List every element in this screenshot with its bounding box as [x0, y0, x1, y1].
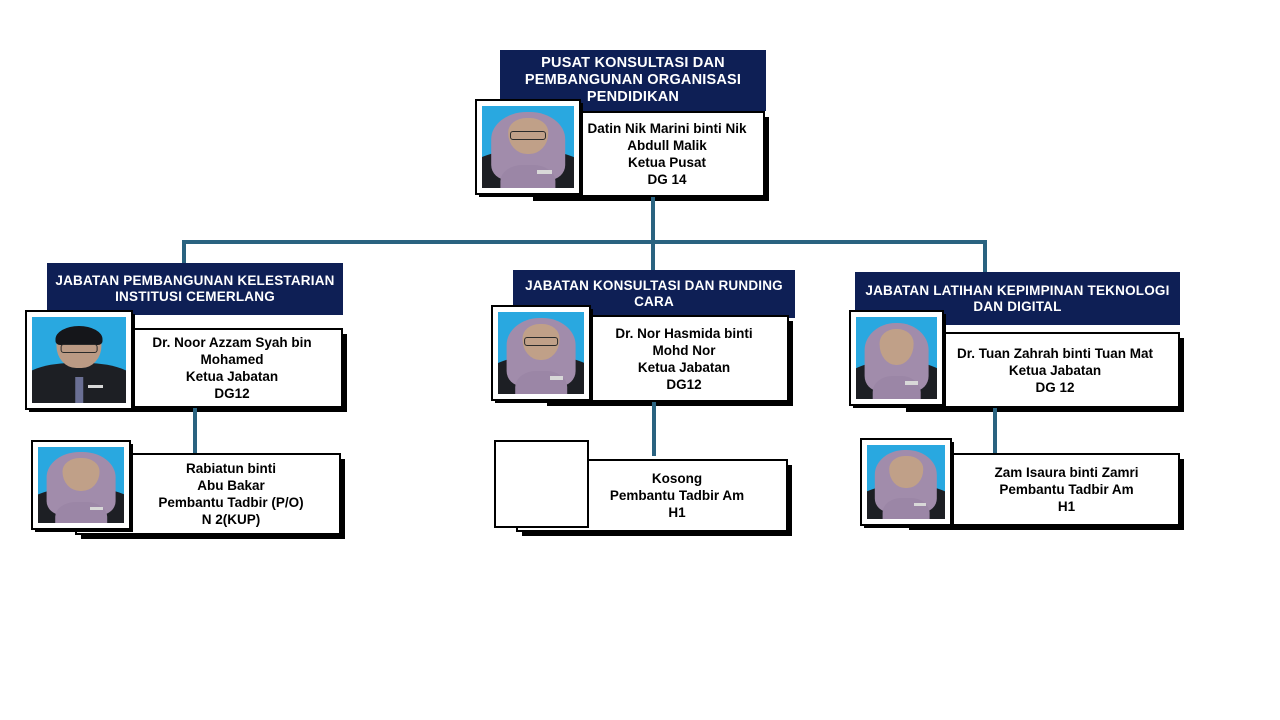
connector-drop-branch-2: [651, 240, 655, 270]
branch-2-staff-photo-placeholder: [494, 440, 589, 528]
org-chart: PUSAT KONSULTASI DAN PEMBANGUNAN ORGANIS…: [0, 0, 1280, 720]
branch-3-staff-photo: [860, 438, 952, 526]
branch-1-staff-photo: [31, 440, 131, 530]
branch-3-staff-details: Zam Isaura binti Zamri Pembantu Tadbir A…: [938, 464, 1144, 515]
branch-1-head-details: Dr. Noor Azzam Syah bin Mohamed Ketua Ja…: [102, 334, 317, 402]
branch-3-head-details: Dr. Tuan Zahrah binti Tuan Mat Ketua Jab…: [921, 345, 1159, 396]
connector-horizontal-bus: [182, 240, 987, 244]
connector-branch-3-to-staff: [993, 408, 997, 456]
connector-root-trunk: [651, 197, 655, 244]
connector-branch-1-to-staff: [193, 408, 197, 456]
branch-1-header-banner: JABATAN PEMBANGUNAN KELESTARIAN INSTITUS…: [47, 263, 343, 315]
connector-drop-branch-1: [182, 240, 186, 265]
root-person-photo: [475, 99, 581, 195]
connector-branch-2-to-staff: [652, 402, 656, 456]
connector-drop-branch-3: [983, 240, 987, 273]
branch-1-staff-details: Rabiatun binti Abu Bakar Pembantu Tadbir…: [106, 460, 309, 528]
branch-1-header-label: JABATAN PEMBANGUNAN KELESTARIAN INSTITUS…: [53, 273, 337, 305]
branch-2-head-photo: [491, 305, 591, 401]
branch-3-head-photo: [849, 310, 944, 406]
branch-2-head-details: Dr. Nor Hasmida binti Mohd Nor Ketua Jab…: [571, 325, 758, 393]
branch-1-head-photo: [25, 310, 133, 410]
